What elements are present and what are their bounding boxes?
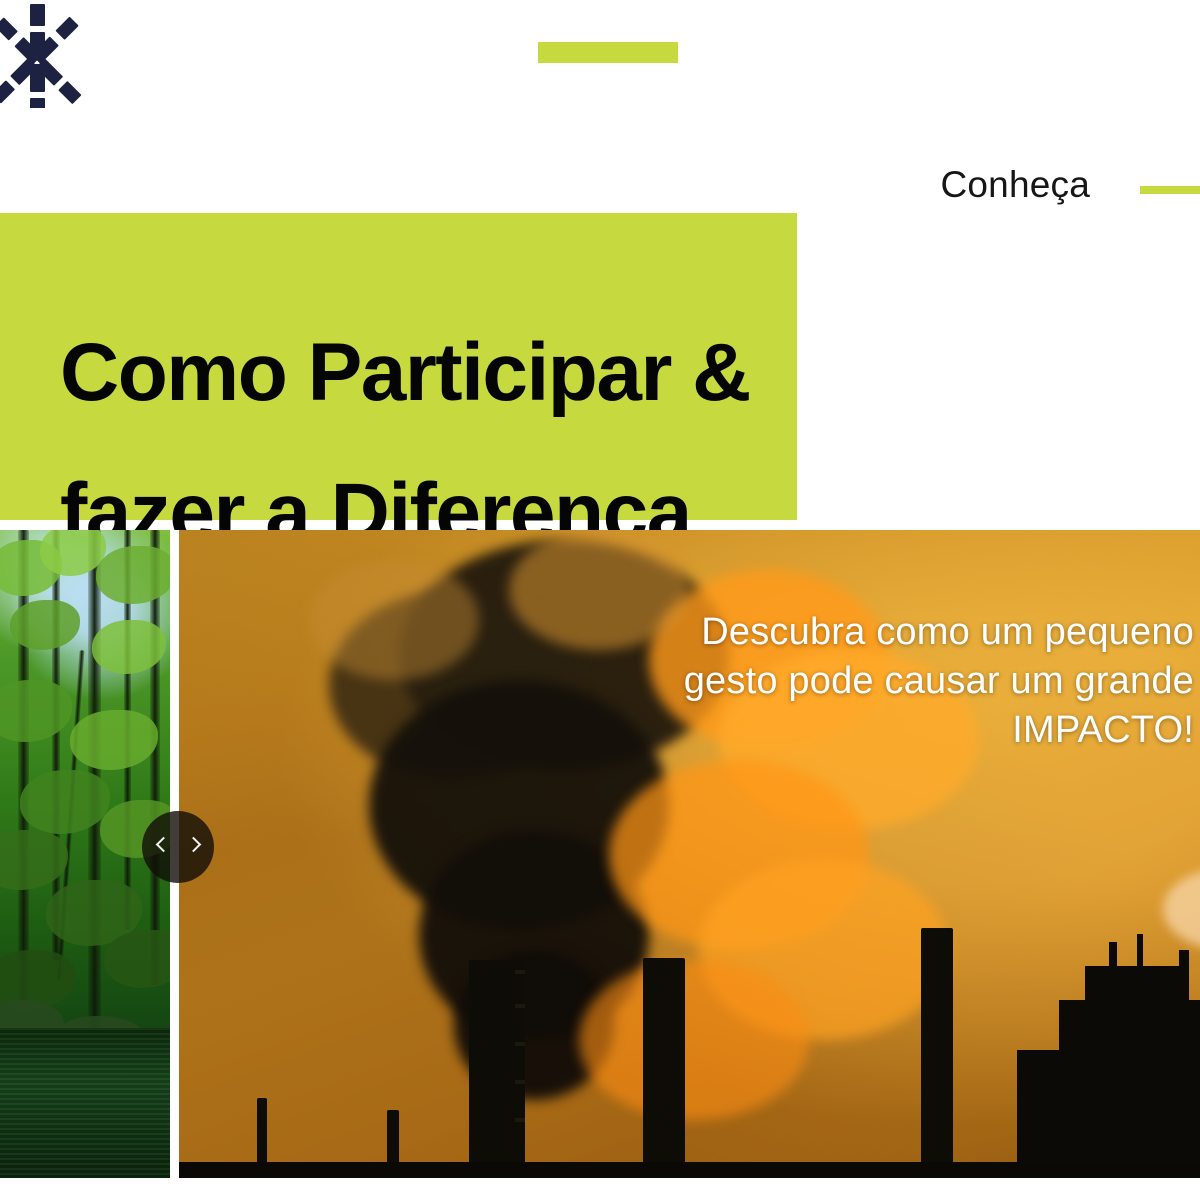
asterisk-burst-logo-icon (0, 2, 108, 108)
brand-logo[interactable] (0, 2, 108, 108)
section-eyebrow: Conheça (940, 163, 1090, 207)
overlay-line-3: IMPACTO! (454, 706, 1194, 755)
top-accent-bar (538, 42, 678, 63)
foliage (96, 546, 170, 604)
overlay-line-1: Descubra como um pequeno (454, 608, 1194, 657)
landing-page: Conheça Como Participar & fazer a Difere… (0, 0, 1200, 1200)
carousel-slide-pollution[interactable]: Descubra como um pequeno gesto pode caus… (179, 530, 1200, 1178)
eyebrow-accent-dash (1140, 186, 1200, 194)
stack-rung (515, 1080, 525, 1084)
refinery-tower (1109, 942, 1117, 972)
lit-smoke-edge (579, 960, 809, 1120)
carousel-nav[interactable] (142, 811, 214, 883)
stack-rung (515, 1118, 525, 1122)
overlay-line-2: gesto pode causar um grande (454, 657, 1194, 706)
refinery-tower (1179, 950, 1189, 1178)
refinery-tower (1137, 934, 1143, 972)
chevron-right-icon[interactable] (185, 834, 201, 860)
chevron-left-icon[interactable] (155, 834, 171, 860)
ground-line (179, 1162, 1200, 1178)
stream-water (0, 1028, 170, 1178)
smokestack (469, 960, 525, 1178)
background-stack (643, 958, 685, 1178)
stack-rung (515, 1004, 525, 1008)
refinery-block (1017, 1050, 1077, 1178)
page-title-line-1: Como Participar & (60, 303, 1200, 443)
image-carousel[interactable]: Descubra como um pequeno gesto pode caus… (0, 530, 1200, 1178)
slide-overlay-text: Descubra como um pequeno gesto pode caus… (454, 608, 1194, 755)
background-stack (921, 928, 953, 1178)
tree-trunk (18, 530, 29, 1000)
stack-rung (515, 970, 525, 974)
refinery-deck (1085, 966, 1181, 1010)
foliage (104, 930, 170, 988)
stack-rung (515, 1042, 525, 1046)
